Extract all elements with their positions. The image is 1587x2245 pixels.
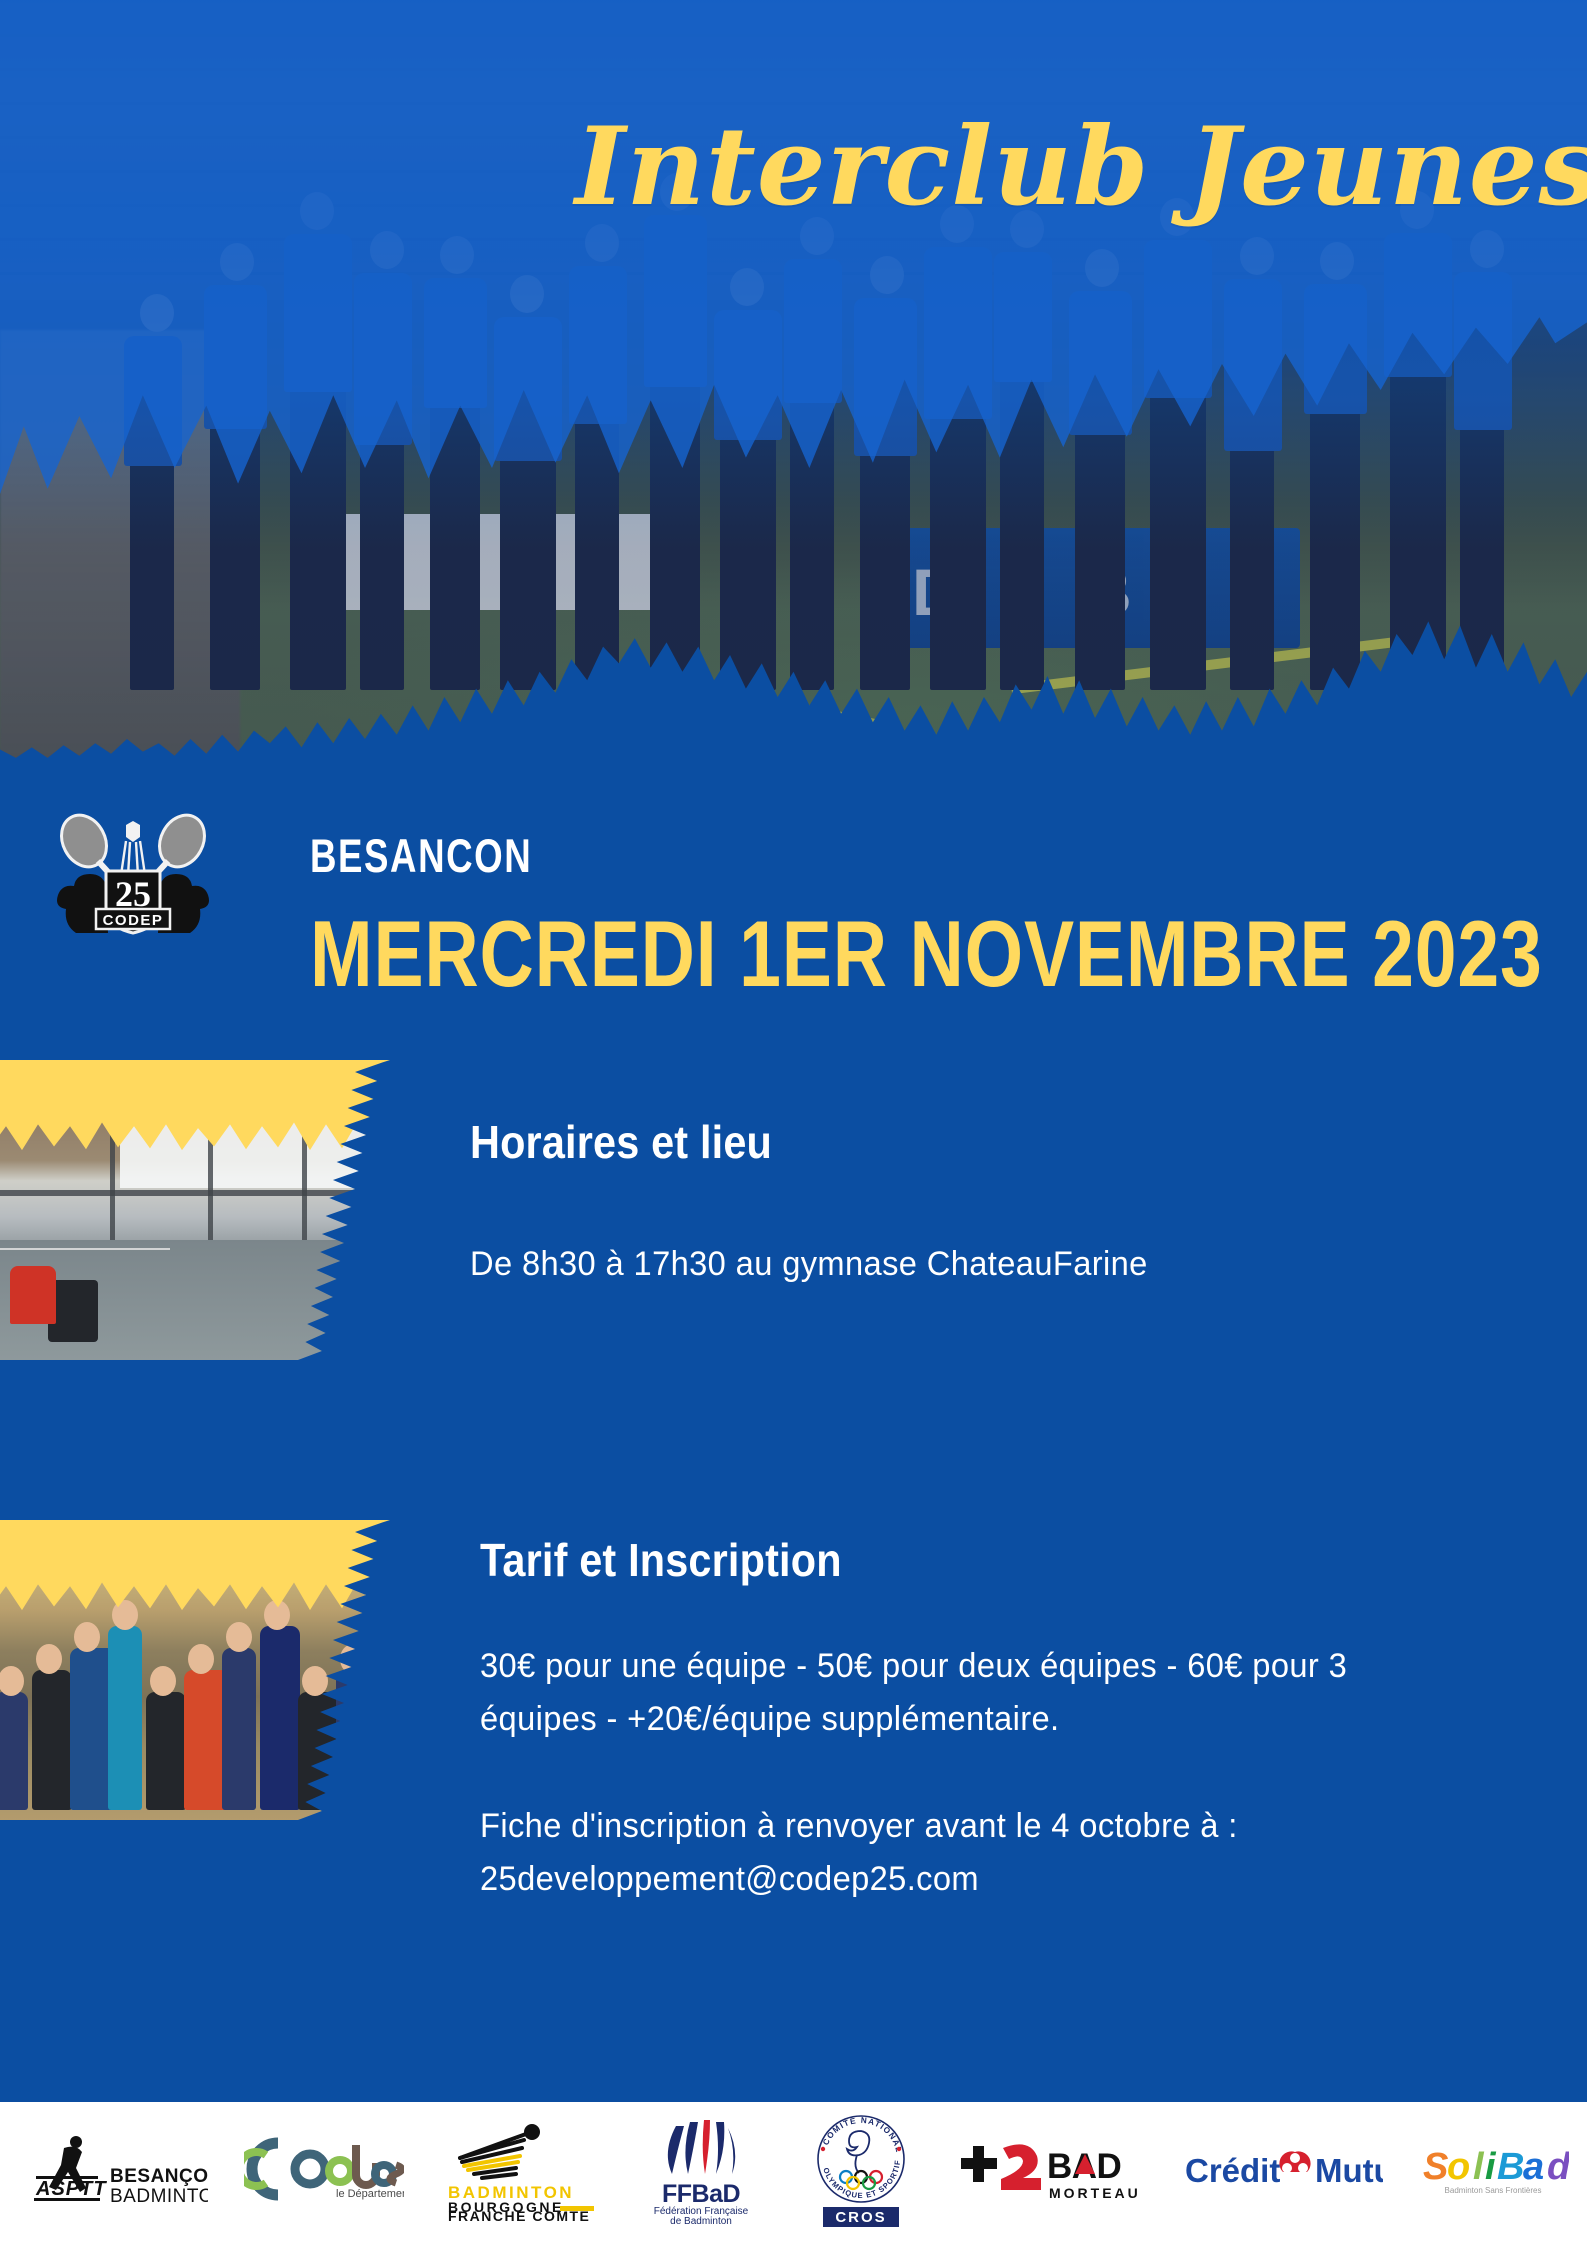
player-head [302, 1666, 328, 1696]
player-figure [222, 1648, 256, 1810]
svg-text:de Badminton: de Badminton [670, 2216, 732, 2226]
hero-banner: Interclub Jeunes [0, 0, 1587, 760]
poster-title: Interclub Jeunes [575, 112, 1535, 222]
svg-text:COMITÉ NATIONAL: COMITÉ NATIONAL [822, 2115, 904, 2154]
svg-text:FRANCHE COMTE: FRANCHE COMTE [448, 2208, 590, 2222]
svg-text:BESANÇON: BESANÇON [110, 2166, 208, 2187]
svg-text:i: i [1485, 2146, 1497, 2188]
svg-text:Crédit: Crédit [1185, 2152, 1280, 2189]
ffbad-logo: FFBaD Fédération Française de Badminton [636, 2110, 766, 2230]
svg-text:FFBaD: FFBaD [662, 2180, 740, 2208]
player-head [188, 1644, 214, 1674]
svg-text:ASPTT: ASPTT [35, 2178, 107, 2200]
doubs-departement-logo: le Département [244, 2110, 404, 2230]
svg-text:Mutuel: Mutuel [1315, 2152, 1383, 2189]
player-head [74, 1622, 100, 1652]
solibad-logo: S o l i B a d Badminton Sans Frontières [1419, 2110, 1569, 2230]
svg-text:CODEP: CODEP [103, 912, 164, 929]
section-heading-horaires: Horaires et lieu [470, 1115, 772, 1169]
svg-text:d: d [1547, 2146, 1569, 2188]
codep25-badminton-logo: 25 CODEP [38, 805, 228, 935]
badminton-bourgogne-franche-comte-logo: BADMINTON BOURGOGNE FRANCHE COMTE [440, 2110, 600, 2230]
svg-text:S: S [1423, 2146, 1448, 2188]
sponsor-footer: ASPTT BESANÇON BADMINTON le Département [0, 2095, 1587, 2245]
gymnasium-photo-card [0, 1060, 390, 1360]
svg-text:B: B [1497, 2146, 1524, 2188]
cros-comite-national-olympique-logo: COMITÉ NATIONAL OLYMPIQUE ET SPORTIF FRA… [801, 2110, 921, 2230]
player-head [150, 1666, 176, 1696]
player-figure [0, 1692, 28, 1810]
section-body-tarif: 30€ pour une équipe - 50€ pour deux équi… [480, 1640, 1469, 1745]
gym-beam [0, 1190, 390, 1196]
plus2bad-morteau-logo: BAD MORTEAU [957, 2110, 1147, 2230]
asptt-besancon-badminton-logo: ASPTT BESANÇON BADMINTON [18, 2110, 208, 2230]
player-head [112, 1600, 138, 1630]
svg-text:le Département: le Département [336, 2188, 404, 2200]
svg-text:Badminton Sans Frontières: Badminton Sans Frontières [1445, 2186, 1542, 2195]
svg-text:CROS: CROS [836, 2209, 887, 2226]
city-label: BESANCON [310, 828, 532, 883]
svg-text:o: o [1447, 2146, 1470, 2188]
svg-text:l: l [1473, 2146, 1485, 2188]
player-figure [146, 1692, 186, 1810]
player-figure [260, 1626, 300, 1810]
poster: Interclub Jeunes 25 [0, 0, 1587, 2245]
svg-text:a: a [1523, 2146, 1544, 2188]
svg-text:BADMINTON: BADMINTON [110, 2186, 208, 2207]
svg-text:MORTEAU: MORTEAU [1049, 2185, 1141, 2201]
section-heading-tarif: Tarif et Inscription [480, 1533, 842, 1587]
section-body-tarif-inscription: Fiche d'inscription à renvoyer avant le … [480, 1800, 1469, 1905]
event-date: MERCREDI 1ER NOVEMBRE 2023 [310, 900, 1543, 1008]
player-head [36, 1644, 62, 1674]
team-photo-card [0, 1520, 390, 1820]
credit-mutuel-logo: Crédit Mutuel [1183, 2110, 1383, 2230]
section-body-horaires: De 8h30 à 17h30 au gymnase ChateauFarine [470, 1238, 1372, 1291]
gym-net [0, 1248, 170, 1250]
player-figure [32, 1670, 72, 1810]
player-head [226, 1622, 252, 1652]
gym-referee [10, 1266, 56, 1324]
player-figure [108, 1626, 142, 1810]
